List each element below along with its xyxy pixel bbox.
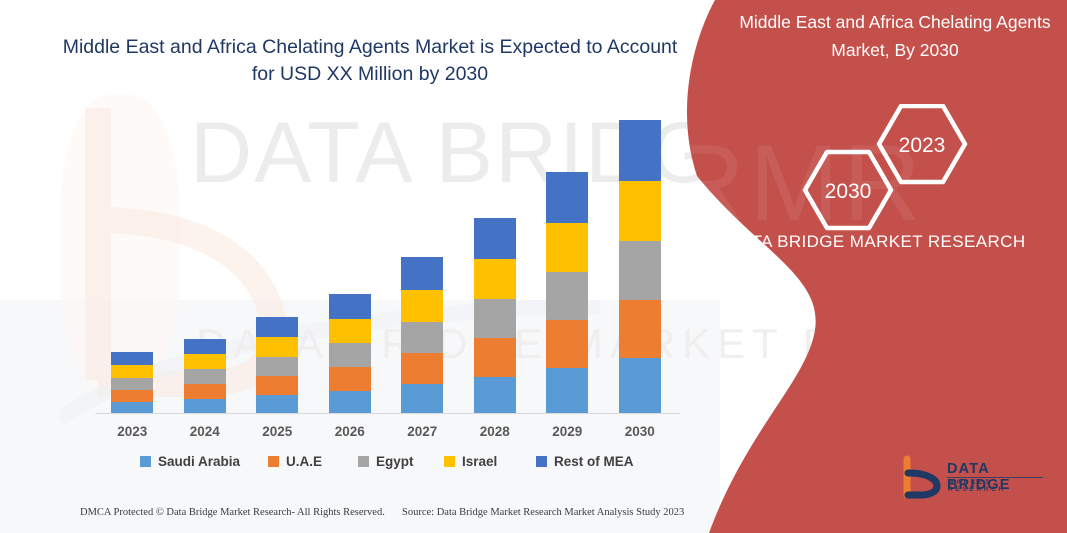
- legend-item-rest-of-mea[interactable]: Rest of MEA: [536, 454, 634, 469]
- legend-swatch-icon: [536, 456, 547, 467]
- bar-segment-egypt-2030: [619, 241, 661, 300]
- x-tick-label-2027: 2027: [392, 424, 452, 439]
- legend-item-u-a-e[interactable]: U.A.E: [268, 454, 322, 469]
- legend-item-saudi-arabia[interactable]: Saudi Arabia: [140, 454, 240, 469]
- bar-segment-u-a-e-2025: [256, 376, 298, 395]
- bar-segment-egypt-2029: [546, 272, 588, 320]
- bar-segment-egypt-2026: [329, 343, 371, 367]
- infographic-canvas: DATA BRIDGE DATA BRIDGE MARKET RESEARCH …: [0, 0, 1067, 533]
- bar-segment-saudi-arabia-2024: [184, 399, 226, 414]
- bar-2023: [111, 352, 153, 414]
- stacked-bar-chart: [96, 100, 676, 414]
- bar-2026: [329, 294, 371, 414]
- bar-segment-u-a-e-2024: [184, 384, 226, 399]
- bar-2028: [474, 218, 516, 414]
- bar-segment-u-a-e-2026: [329, 367, 371, 391]
- bar-segment-rest-of-mea-2026: [329, 294, 371, 319]
- legend-item-israel[interactable]: Israel: [444, 454, 497, 469]
- bar-segment-egypt-2028: [474, 299, 516, 338]
- svg-text:2030: 2030: [825, 180, 872, 203]
- bar-segment-rest-of-mea-2025: [256, 317, 298, 337]
- footer-source: Source: Data Bridge Market Research Mark…: [402, 507, 684, 518]
- bar-segment-rest-of-mea-2023: [111, 352, 153, 365]
- legend-swatch-icon: [444, 456, 455, 467]
- logo-divider: [947, 477, 1043, 478]
- bar-segment-saudi-arabia-2026: [329, 391, 371, 414]
- bar-segment-rest-of-mea-2029: [546, 172, 588, 223]
- x-tick-label-2024: 2024: [175, 424, 235, 439]
- legend-label: Rest of MEA: [554, 454, 634, 469]
- bar-segment-egypt-2027: [401, 322, 443, 353]
- bar-segment-u-a-e-2030: [619, 300, 661, 358]
- x-tick-label-2023: 2023: [102, 424, 162, 439]
- bar-segment-saudi-arabia-2028: [474, 377, 516, 414]
- x-tick-label-2029: 2029: [537, 424, 597, 439]
- brand-name: DATA BRIDGE MARKET RESEARCH: [727, 228, 1027, 255]
- x-axis-tick-labels: 20232024202520262027202820292030: [96, 424, 680, 446]
- legend-label: U.A.E: [286, 454, 322, 469]
- bar-segment-saudi-arabia-2027: [401, 384, 443, 414]
- panel-title: Middle East and Africa Chelating Agents …: [735, 8, 1055, 64]
- x-axis-line: [96, 413, 680, 414]
- bar-segment-egypt-2023: [111, 378, 153, 390]
- x-tick-label-2030: 2030: [610, 424, 670, 439]
- bar-segment-israel-2025: [256, 337, 298, 357]
- bar-segment-israel-2028: [474, 259, 516, 299]
- legend-swatch-icon: [140, 456, 151, 467]
- svg-text:2023: 2023: [899, 134, 946, 157]
- legend-swatch-icon: [358, 456, 369, 467]
- bar-2029: [546, 172, 588, 414]
- bar-segment-u-a-e-2027: [401, 353, 443, 384]
- x-tick-label-2026: 2026: [320, 424, 380, 439]
- x-tick-label-2025: 2025: [247, 424, 307, 439]
- bar-segment-rest-of-mea-2027: [401, 257, 443, 290]
- bar-2027: [401, 257, 443, 414]
- footer: DMCA Protected © Data Bridge Market Rese…: [80, 507, 680, 523]
- bar-segment-israel-2024: [184, 354, 226, 369]
- bar-2024: [184, 339, 226, 414]
- legend-label: Israel: [462, 454, 497, 469]
- footer-copyright: DMCA Protected © Data Bridge Market Rese…: [80, 507, 385, 518]
- bar-segment-egypt-2024: [184, 369, 226, 384]
- logo-tagline: MARKET RESEARCH: [948, 479, 1049, 493]
- legend-item-egypt[interactable]: Egypt: [358, 454, 414, 469]
- bar-segment-saudi-arabia-2029: [546, 368, 588, 414]
- brand-panel: RMR Middle East and Africa Chelating Age…: [687, 0, 1067, 533]
- bar-segment-rest-of-mea-2024: [184, 339, 226, 354]
- bar-segment-egypt-2025: [256, 357, 298, 376]
- bar-segment-u-a-e-2028: [474, 338, 516, 377]
- chart-title: Middle East and Africa Chelating Agents …: [60, 34, 680, 88]
- bar-segment-israel-2023: [111, 365, 153, 378]
- bar-segment-saudi-arabia-2030: [619, 358, 661, 414]
- bar-segment-u-a-e-2023: [111, 390, 153, 402]
- legend-swatch-icon: [268, 456, 279, 467]
- bar-segment-rest-of-mea-2030: [619, 120, 661, 181]
- bar-segment-israel-2027: [401, 290, 443, 322]
- bar-segment-u-a-e-2029: [546, 320, 588, 368]
- bar-segment-israel-2026: [329, 319, 371, 343]
- logo-b-icon: [899, 455, 943, 499]
- bar-2025: [256, 317, 298, 414]
- legend-label: Egypt: [376, 454, 414, 469]
- hexagon-group: 2023 2030: [797, 104, 987, 234]
- bar-segment-israel-2030: [619, 181, 661, 241]
- bar-segment-saudi-arabia-2025: [256, 395, 298, 414]
- x-tick-label-2028: 2028: [465, 424, 525, 439]
- bar-2030: [619, 120, 661, 414]
- company-logo: DATA BRIDGE MARKET RESEARCH: [899, 455, 1049, 503]
- chart-legend: Saudi ArabiaU.A.EEgyptIsraelRest of MEA: [96, 454, 680, 476]
- bar-segment-rest-of-mea-2028: [474, 218, 516, 259]
- bar-segment-israel-2029: [546, 223, 588, 272]
- legend-label: Saudi Arabia: [158, 454, 240, 469]
